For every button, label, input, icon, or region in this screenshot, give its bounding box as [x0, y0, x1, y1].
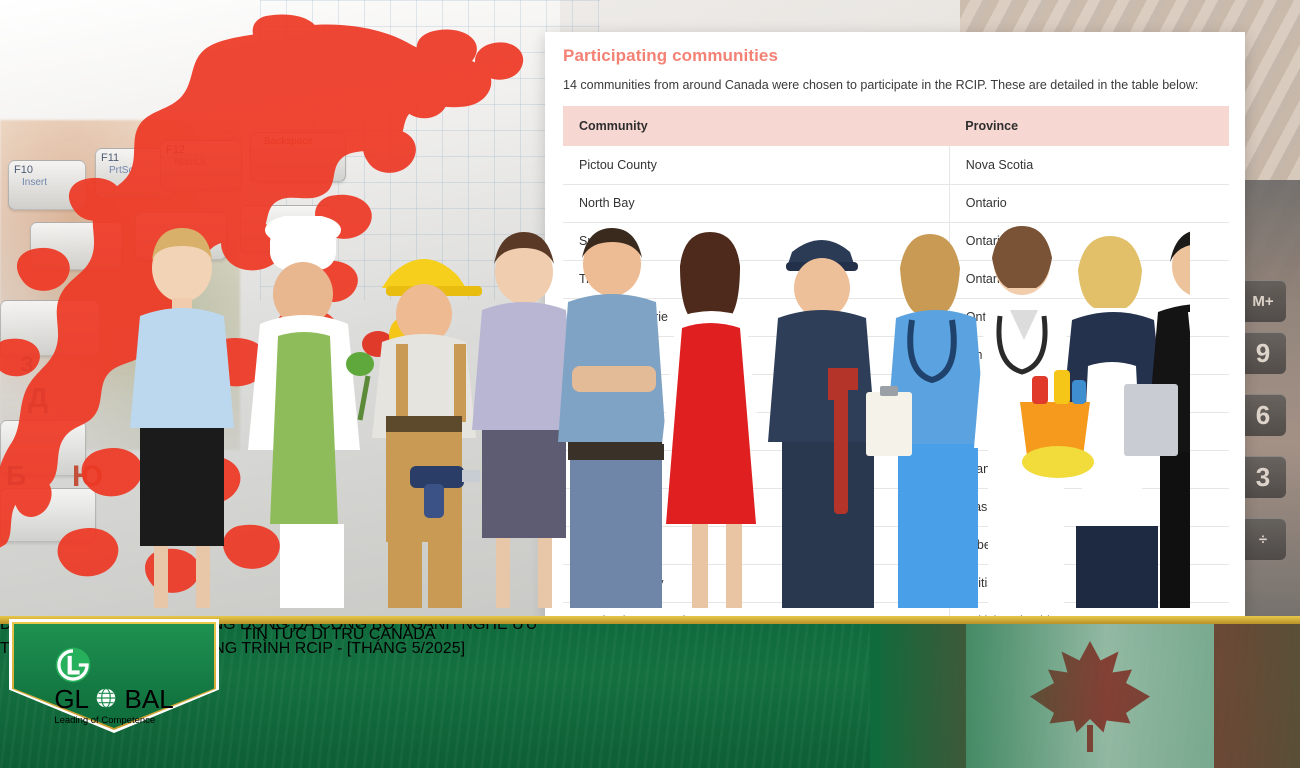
- calculator-key-3: 3: [1240, 456, 1286, 498]
- workers-group-photo: [110, 216, 1190, 616]
- person-nurse: [866, 234, 986, 608]
- calculator-key-9: 9: [1240, 332, 1286, 374]
- brand-badge-bottom: GL BAL Leading of Competence: [14, 624, 214, 728]
- poster-canvas: F10 Insert F11 PrtSc F12 NumLk Backspace…: [0, 0, 1300, 768]
- table-header-row: Community Province: [563, 106, 1229, 146]
- person-plumber: [768, 240, 876, 608]
- badge-globe-icon: [96, 684, 116, 715]
- document-subtitle: 14 communities from around Canada were c…: [563, 78, 1229, 92]
- person-construction-worker: [372, 259, 482, 608]
- table-row: Pictou CountyNova Scotia: [563, 146, 1229, 184]
- workers-illustration: [110, 216, 1190, 616]
- cell-province: Nova Scotia: [949, 146, 1229, 184]
- calculator-key-mplus: M+: [1240, 280, 1286, 322]
- column-header-province: Province: [949, 106, 1229, 146]
- column-header-community: Community: [563, 106, 949, 146]
- person-red-dress-woman: [662, 232, 760, 608]
- bottom-banner: GL BAL Leading of Competence: [0, 616, 1300, 768]
- badge-logo-wordmark: GL BAL: [54, 684, 173, 715]
- badge-logo-tagline: Leading of Competence: [54, 715, 173, 726]
- news-kicker-label: TIN TỨC DI TRÚ CANADA: [242, 626, 436, 643]
- person-office-woman: [130, 228, 234, 608]
- news-kicker-bar: TIN TỨC DI TRÚ CANADA: [228, 626, 454, 670]
- calculator-key-6: 6: [1240, 394, 1286, 436]
- cell-community: Pictou County: [563, 146, 949, 184]
- clipboard: [866, 392, 912, 456]
- calculator-key-divide: ÷: [1240, 518, 1286, 560]
- badge-logo-mark-icon: [54, 646, 92, 684]
- document-title: Participating communities: [563, 46, 1229, 66]
- person-denim-man: [558, 228, 666, 608]
- badge-logo-part-bal: BAL: [125, 684, 174, 714]
- banner-flag-fade: [870, 616, 1300, 768]
- badge-logo-part-gl: GL: [54, 684, 88, 714]
- laptop: [1124, 384, 1178, 456]
